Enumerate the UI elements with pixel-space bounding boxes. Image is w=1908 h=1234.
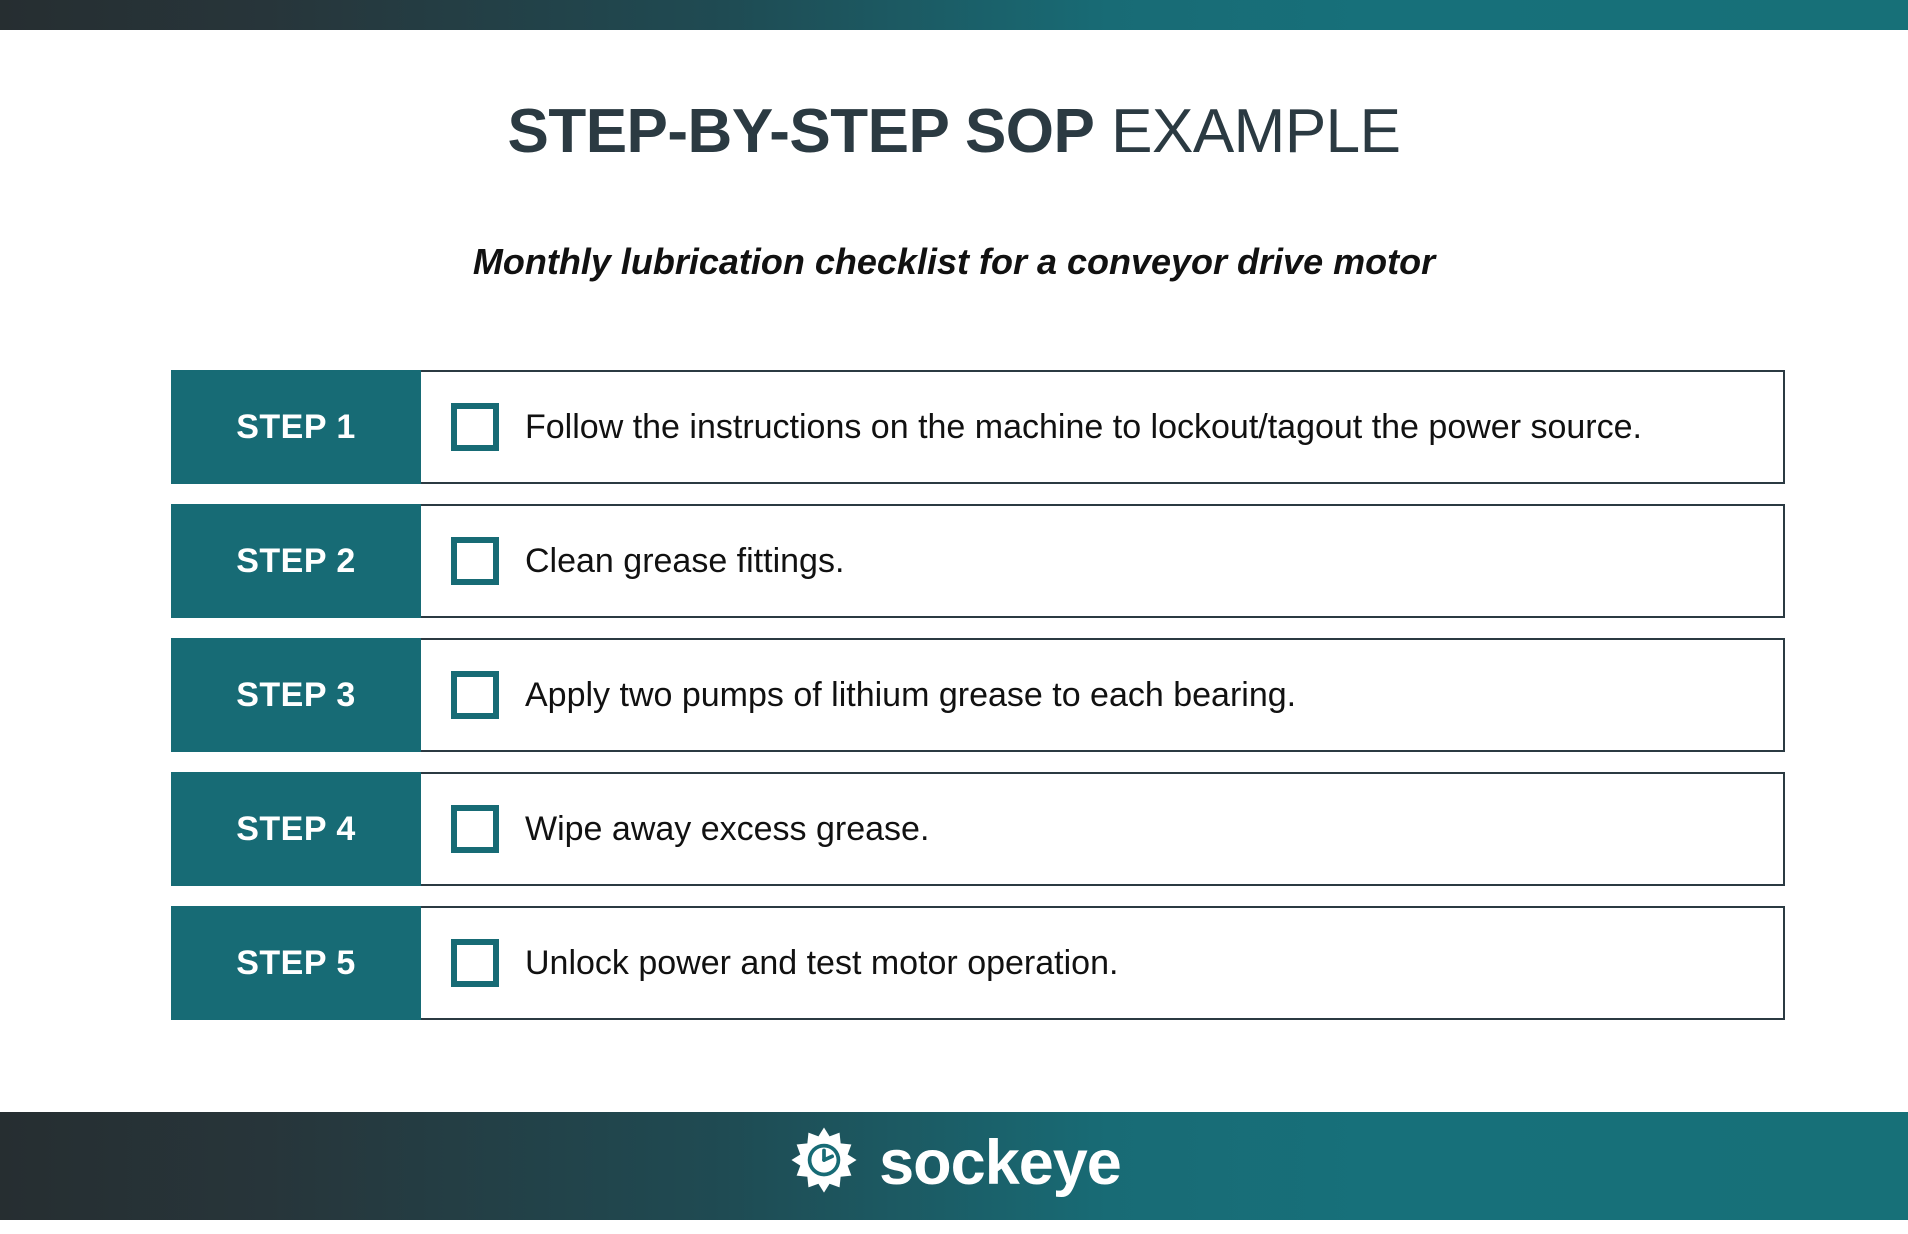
step-body: Clean grease fittings.	[421, 504, 1785, 618]
step-checkbox[interactable]	[451, 939, 499, 987]
step-checkbox[interactable]	[451, 671, 499, 719]
step-checkbox[interactable]	[451, 805, 499, 853]
step-body: Unlock power and test motor operation.	[421, 906, 1785, 1020]
step-checkbox[interactable]	[451, 403, 499, 451]
step-label-badge: STEP 4	[171, 772, 421, 886]
step-instruction-text: Unlock power and test motor operation.	[525, 943, 1118, 983]
step-instruction-text: Follow the instructions on the machine t…	[525, 407, 1642, 447]
step-list: STEP 1 Follow the instructions on the ma…	[171, 370, 1785, 1040]
step-body: Apply two pumps of lithium grease to eac…	[421, 638, 1785, 752]
step-label-badge: STEP 2	[171, 504, 421, 618]
gear-clock-icon	[787, 1126, 861, 1200]
step-body: Follow the instructions on the machine t…	[421, 370, 1785, 484]
page-title-bold: STEP-BY-STEP SOP	[507, 97, 1094, 166]
step-row: STEP 5 Unlock power and test motor opera…	[171, 906, 1785, 1020]
footer-logo: sockeye	[0, 1126, 1908, 1200]
step-label-badge: STEP 5	[171, 906, 421, 1020]
step-row: STEP 1 Follow the instructions on the ma…	[171, 370, 1785, 484]
step-instruction-text: Wipe away excess grease.	[525, 809, 929, 849]
step-row: STEP 4 Wipe away excess grease.	[171, 772, 1785, 886]
step-body: Wipe away excess grease.	[421, 772, 1785, 886]
brand-wordmark: sockeye	[879, 1130, 1121, 1196]
step-checkbox[interactable]	[451, 537, 499, 585]
top-gradient-bar	[0, 0, 1908, 30]
step-label-badge: STEP 3	[171, 638, 421, 752]
page-title: STEP-BY-STEP SOP EXAMPLE	[0, 96, 1908, 168]
step-row: STEP 3 Apply two pumps of lithium grease…	[171, 638, 1785, 752]
step-row: STEP 2 Clean grease fittings.	[171, 504, 1785, 618]
page-subtitle: Monthly lubrication checklist for a conv…	[0, 240, 1908, 284]
step-label-badge: STEP 1	[171, 370, 421, 484]
page-title-regular: EXAMPLE	[1111, 97, 1400, 166]
step-instruction-text: Clean grease fittings.	[525, 541, 844, 581]
step-instruction-text: Apply two pumps of lithium grease to eac…	[525, 675, 1296, 715]
bottom-white-strip	[0, 1220, 1908, 1234]
